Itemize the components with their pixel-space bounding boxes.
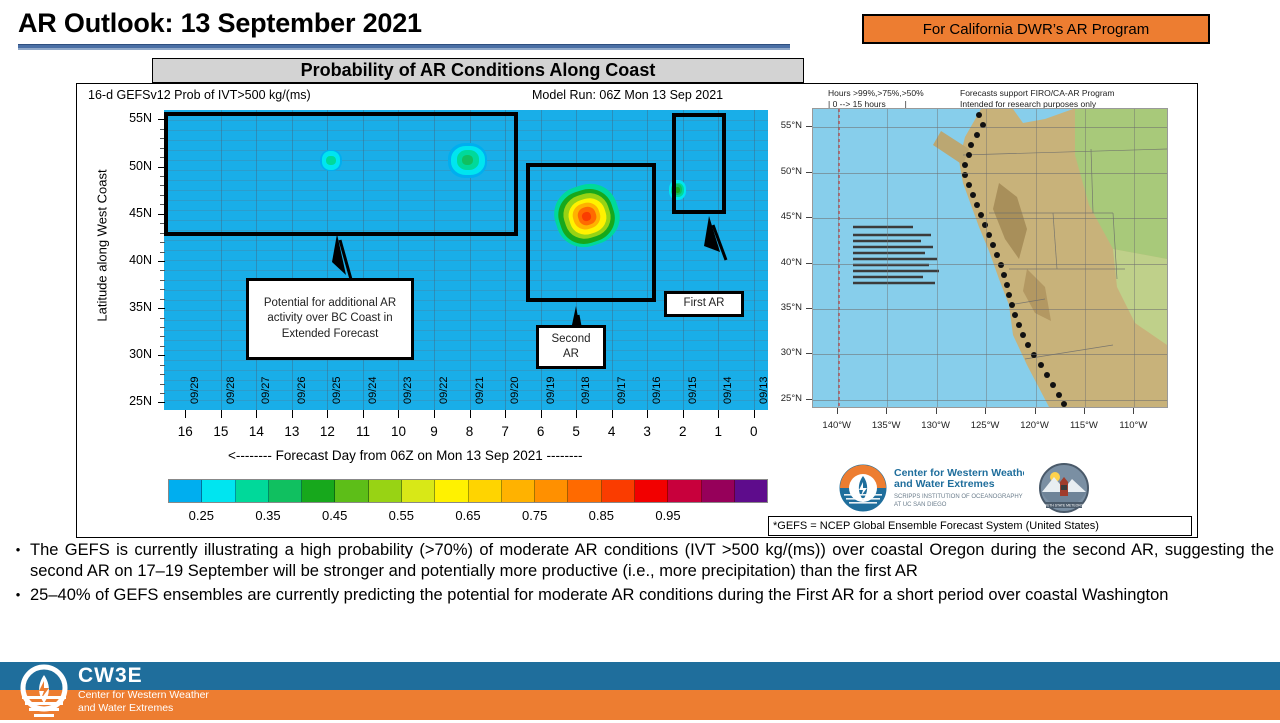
x-axis-tick: [185, 410, 186, 418]
y-axis-minor-tick: [160, 327, 165, 328]
x-axis-tick: [541, 410, 542, 418]
map-x-axis-tick: [1084, 408, 1085, 414]
colorbar-tick-label: 0.35: [245, 508, 291, 523]
map-y-axis-label: 25°N: [768, 393, 802, 404]
y-axis-tick: [158, 355, 165, 356]
y-axis-minor-tick: [160, 252, 165, 253]
x-axis-date-label: 09/16: [651, 376, 663, 404]
grid-line-horizontal: [164, 390, 768, 391]
x-axis-day-label: 14: [241, 424, 271, 439]
grid-line-horizontal: [164, 250, 768, 251]
map-y-axis-label: 40°N: [768, 257, 802, 268]
colorbar-swatch: [535, 480, 568, 502]
y-axis-minor-tick: [160, 299, 165, 300]
y-axis-minor-tick: [160, 336, 165, 337]
x-axis-tick: [221, 410, 222, 418]
map-grid-line: [813, 309, 1167, 310]
y-axis-tick-label: 25N: [110, 394, 152, 408]
x-axis-tick: [470, 410, 471, 418]
colorbar-tick-label: 0.65: [445, 508, 491, 523]
colorbar-swatch: [402, 480, 435, 502]
x-axis-date-label: 09/21: [474, 376, 486, 404]
y-axis-tick-label: 45N: [110, 206, 152, 220]
annotation-second-ar: Second AR: [536, 325, 606, 369]
map-x-axis-label: 140°W: [817, 420, 857, 431]
map-x-axis-label: 120°W: [1015, 420, 1055, 431]
x-axis-date-label: 09/20: [509, 376, 521, 404]
map-y-axis-tick: [806, 217, 812, 218]
y-axis-tick: [158, 402, 165, 403]
x-axis-day-label: 10: [383, 424, 413, 439]
west-coast-map: [812, 108, 1168, 408]
bullet-text: 25–40% of GEFS ensembles are currently p…: [30, 585, 1274, 606]
map-grid-line: [937, 109, 938, 407]
x-axis-date-label: 09/19: [545, 376, 557, 404]
x-axis-day-label: 4: [597, 424, 627, 439]
x-axis-tick: [327, 410, 328, 418]
y-axis-minor-tick: [160, 270, 165, 271]
bullet-list: •The GEFS is currently illustrating a hi…: [6, 540, 1274, 608]
colorbar-swatch: [435, 480, 468, 502]
y-axis-tick: [158, 261, 165, 262]
x-axis-day-label: 11: [348, 424, 378, 439]
colorbar-swatch: [302, 480, 335, 502]
y-axis-minor-tick: [160, 280, 165, 281]
hovmoller-title-right: Model Run: 06Z Mon 13 Sep 2021: [532, 88, 723, 102]
x-axis-tick: [256, 410, 257, 418]
cw3e-logo-line4: AT UC SAN DIEGO: [894, 502, 947, 508]
grid-line-horizontal: [164, 370, 768, 371]
x-axis-day-label: 13: [277, 424, 307, 439]
colorbar-swatch: [369, 480, 402, 502]
colorbar-swatch: [469, 480, 502, 502]
colorbar-swatch: [236, 480, 269, 502]
x-axis-date-label: 09/17: [616, 376, 628, 404]
x-axis-date-label: 09/28: [225, 376, 237, 404]
x-axis-tick: [363, 410, 364, 418]
grid-line-horizontal: [164, 400, 768, 401]
y-axis-minor-tick: [160, 242, 165, 243]
x-axis-date-label: 09/14: [722, 376, 734, 404]
highlight-box-second-ar: [526, 163, 656, 302]
y-axis-minor-tick: [160, 346, 165, 347]
hovmoller-y-axis-label: Latitude along West Coast: [95, 136, 110, 356]
map-x-axis-label: 130°W: [916, 420, 956, 431]
y-axis-minor-tick: [160, 289, 165, 290]
grid-line-horizontal: [164, 260, 768, 261]
colorbar: [168, 479, 768, 503]
colorbar-swatch: [702, 480, 735, 502]
colorbar-swatch: [269, 480, 302, 502]
footer-subtitle: Center for Western Weather and Water Ext…: [78, 689, 209, 716]
x-axis-date-label: 09/24: [367, 376, 379, 404]
plymouth-state-logo: PLYMOUTH STATE METEOROLOGY: [1038, 462, 1090, 514]
map-x-axis-tick: [837, 408, 838, 414]
colorbar-tick-label: 0.45: [312, 508, 358, 523]
x-axis-day-label: 12: [312, 424, 342, 439]
map-grid-line: [1134, 109, 1135, 407]
y-axis-tick-label: 35N: [110, 300, 152, 314]
map-grid-line: [813, 354, 1167, 355]
colorbar-swatch: [568, 480, 601, 502]
bullet-item: •25–40% of GEFS ensembles are currently …: [6, 585, 1274, 606]
annotation-first-ar: First AR: [664, 291, 744, 317]
cw3e-logo-line3: SCRIPPS INSTITUTION OF OCEANOGRAPHY: [894, 494, 1023, 500]
x-axis-day-label: 0: [739, 424, 769, 439]
x-axis-tick: [505, 410, 506, 418]
bullet-text: The GEFS is currently illustrating a hig…: [30, 540, 1274, 583]
psu-logo-caption: PLYMOUTH STATE METEOROLOGY: [1038, 504, 1090, 508]
map-x-axis-label: 135°W: [866, 420, 906, 431]
map-grid-line: [838, 109, 839, 407]
map-x-axis-label: 110°W: [1113, 420, 1153, 431]
grid-line-vertical: [754, 110, 755, 410]
x-axis-tick: [647, 410, 648, 418]
x-axis-tick: [718, 410, 719, 418]
title-divider-secondary: [18, 48, 790, 50]
grid-line-horizontal: [164, 360, 768, 361]
footer-cw3e-logo: [18, 662, 70, 718]
colorbar-tick-label: 0.85: [578, 508, 624, 523]
cw3e-logo: Center for Western Weather and Water Ext…: [838, 462, 1024, 514]
x-axis-day-label: 3: [632, 424, 662, 439]
map-y-axis-label: 45°N: [768, 211, 802, 222]
y-axis-minor-tick: [160, 384, 165, 385]
map-y-axis-label: 50°N: [768, 166, 802, 177]
map-y-axis-tick: [806, 263, 812, 264]
x-axis-date-label: 09/23: [402, 376, 414, 404]
colorbar-tick-label: 0.95: [645, 508, 691, 523]
colorbar-swatch: [668, 480, 701, 502]
map-y-axis-tick: [806, 308, 812, 309]
bullet-item: •The GEFS is currently illustrating a hi…: [6, 540, 1274, 583]
colorbar-swatch: [335, 480, 368, 502]
x-axis-tick: [683, 410, 684, 418]
panel-banner-title: Probability of AR Conditions Along Coast: [152, 58, 804, 83]
map-y-axis-label: 35°N: [768, 302, 802, 313]
x-axis-day-label: 7: [490, 424, 520, 439]
y-axis-tick-label: 50N: [110, 159, 152, 173]
y-axis-minor-tick: [160, 365, 165, 366]
x-axis-day-label: 15: [206, 424, 236, 439]
hovmoller-title-left: 16-d GEFSv12 Prob of IVT>500 kg/(ms): [88, 88, 311, 102]
footer-acronym: CW3E: [78, 664, 143, 688]
colorbar-swatch: [735, 480, 767, 502]
x-axis-day-label: 16: [170, 424, 200, 439]
bullet-marker: •: [6, 585, 30, 606]
x-axis-day-label: 8: [455, 424, 485, 439]
map-grid-line: [813, 127, 1167, 128]
cw3e-logo-line2: and Water Extremes: [894, 478, 995, 490]
colorbar-tick-label: 0.75: [512, 508, 558, 523]
map-y-axis-label: 30°N: [768, 347, 802, 358]
grid-line-horizontal: [164, 240, 768, 241]
x-axis-tick: [612, 410, 613, 418]
map-x-axis-tick: [936, 408, 937, 414]
colorbar-swatch: [635, 480, 668, 502]
x-axis-day-label: 1: [703, 424, 733, 439]
program-badge: For California DWR’s AR Program: [862, 14, 1210, 44]
x-axis-tick: [434, 410, 435, 418]
gefs-footnote: *GEFS = NCEP Global Ensemble Forecast Sy…: [768, 516, 1192, 536]
page-title: AR Outlook: 13 September 2021: [18, 8, 422, 39]
y-axis-tick-label: 40N: [110, 253, 152, 267]
colorbar-swatch: [169, 480, 202, 502]
colorbar-swatch: [502, 480, 535, 502]
x-axis-date-label: 09/27: [260, 376, 272, 404]
map-y-axis-tick: [806, 399, 812, 400]
x-axis-day-label: 9: [419, 424, 449, 439]
x-axis-tick: [292, 410, 293, 418]
x-axis-date-label: 09/29: [189, 376, 201, 404]
colorbar-swatch: [602, 480, 635, 502]
x-axis-date-label: 09/25: [331, 376, 343, 404]
colorbar-swatch: [202, 480, 235, 502]
map-x-axis-label: 115°W: [1064, 420, 1104, 431]
x-axis-day-label: 6: [526, 424, 556, 439]
x-axis-date-label: 09/26: [296, 376, 308, 404]
map-grid-line: [813, 173, 1167, 174]
y-axis-minor-tick: [160, 374, 165, 375]
x-axis-tick: [398, 410, 399, 418]
map-grid-line: [813, 218, 1167, 219]
map-y-axis-tick: [806, 126, 812, 127]
bullet-marker: •: [6, 540, 30, 583]
y-axis-tick-label: 30N: [110, 347, 152, 361]
map-y-axis-tick: [806, 353, 812, 354]
colorbar-tick-label: 0.55: [378, 508, 424, 523]
map-grid-line: [887, 109, 888, 407]
x-axis-date-label: 09/18: [580, 376, 592, 404]
map-x-axis-tick: [886, 408, 887, 414]
map-x-axis-tick: [1133, 408, 1134, 414]
map-graphic: [813, 109, 1167, 407]
map-grid-line: [813, 264, 1167, 265]
map-y-axis-tick: [806, 172, 812, 173]
x-axis-tick: [754, 410, 755, 418]
x-axis-day-label: 5: [561, 424, 591, 439]
highlight-box-first-ar: [672, 113, 726, 214]
map-x-axis-tick: [985, 408, 986, 414]
colorbar-tick-label: 0.25: [178, 508, 224, 523]
map-grid-line: [1036, 109, 1037, 407]
y-axis-tick-label: 55N: [110, 111, 152, 125]
x-axis-tick: [576, 410, 577, 418]
x-axis-day-label: 2: [668, 424, 698, 439]
map-y-axis-label: 55°N: [768, 120, 802, 131]
x-axis-date-label: 09/15: [687, 376, 699, 404]
highlight-box-bc-coast: [164, 112, 518, 236]
map-grid-line: [1085, 109, 1086, 407]
map-x-axis-label: 125°W: [965, 420, 1005, 431]
y-axis-minor-tick: [160, 393, 165, 394]
annotation-extended-forecast: Potential for additional AR activity ove…: [246, 278, 414, 360]
map-grid-line: [813, 400, 1167, 401]
grid-line-horizontal: [164, 380, 768, 381]
x-axis-date-label: 09/22: [438, 376, 450, 404]
map-grid-line: [986, 109, 987, 407]
hovmoller-x-axis-caption: <-------- Forecast Day from 06Z on Mon 1…: [228, 448, 582, 463]
y-axis-minor-tick: [160, 318, 165, 319]
grid-line-horizontal: [164, 270, 768, 271]
footer-band-blue: [0, 662, 1280, 690]
y-axis-tick: [158, 308, 165, 309]
map-x-axis-tick: [1035, 408, 1036, 414]
